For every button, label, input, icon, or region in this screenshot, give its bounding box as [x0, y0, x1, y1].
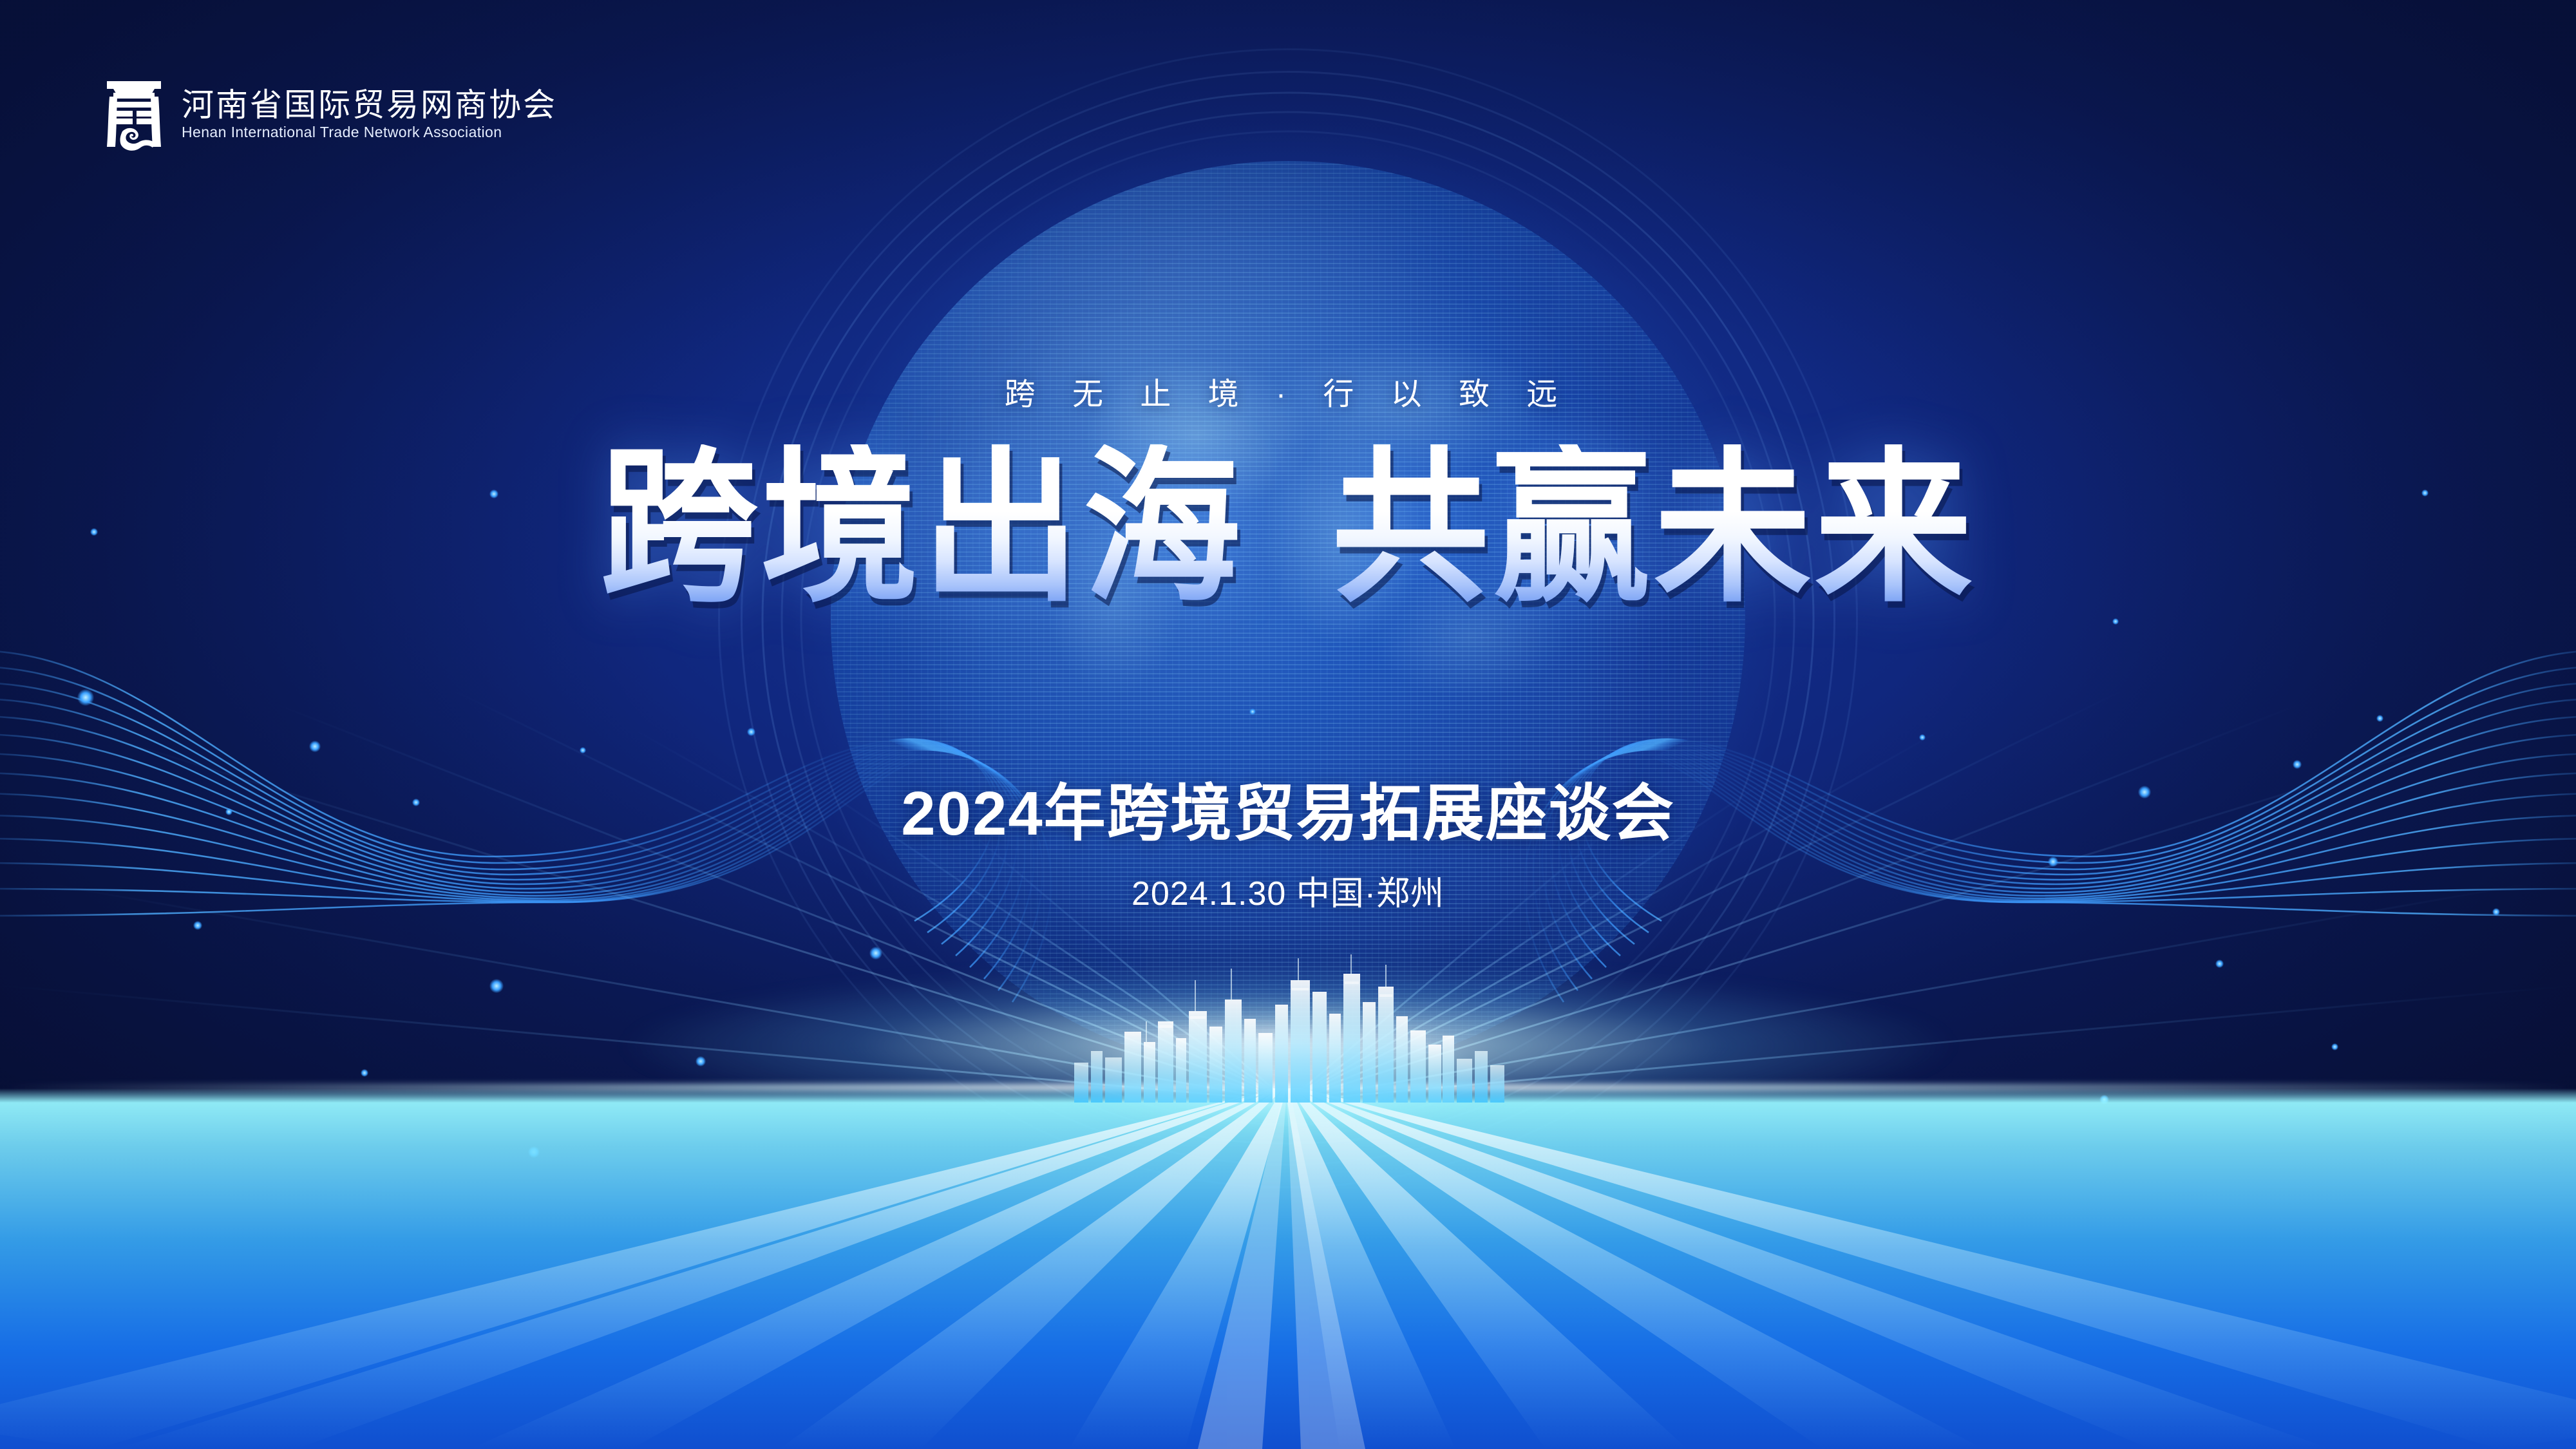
hero-title: 跨境出海 共赢未来 [580, 444, 1996, 612]
hero-subtitle: 2024年跨境贸易拓展座谈会 [901, 763, 1675, 853]
brand-name-en: Henan International Trade Network Associ… [182, 125, 557, 140]
hero-title-part2-text: 共赢未来 [1332, 444, 1976, 612]
hero-title-part1-text: 跨境出海 [600, 444, 1244, 612]
seal-emblem-icon [103, 76, 165, 152]
hero-title-part2: 共赢未来 [1311, 444, 1996, 612]
floor-rays-icon [0, 1088, 2576, 1449]
perspective-floor [0, 1088, 2576, 1449]
hero-tagline: 跨 无 止 境 · 行 以 致 远 [1005, 368, 1572, 413]
city-skyline-icon [1063, 954, 1513, 1103]
brand-text: 河南省国际贸易网商协会 Henan International Trade Ne… [182, 89, 557, 140]
poster-canvas: 河南省国际贸易网商协会 Henan International Trade Ne… [0, 0, 2576, 1449]
brand-name-cn: 河南省国际贸易网商协会 [182, 89, 557, 121]
hero-title-part1: 跨境出海 [580, 444, 1265, 612]
hero-datetime: 2024.1.30 中国·郑州 [1132, 866, 1444, 914]
brand-logo[interactable]: 河南省国际贸易网商协会 Henan International Trade Ne… [103, 76, 557, 152]
